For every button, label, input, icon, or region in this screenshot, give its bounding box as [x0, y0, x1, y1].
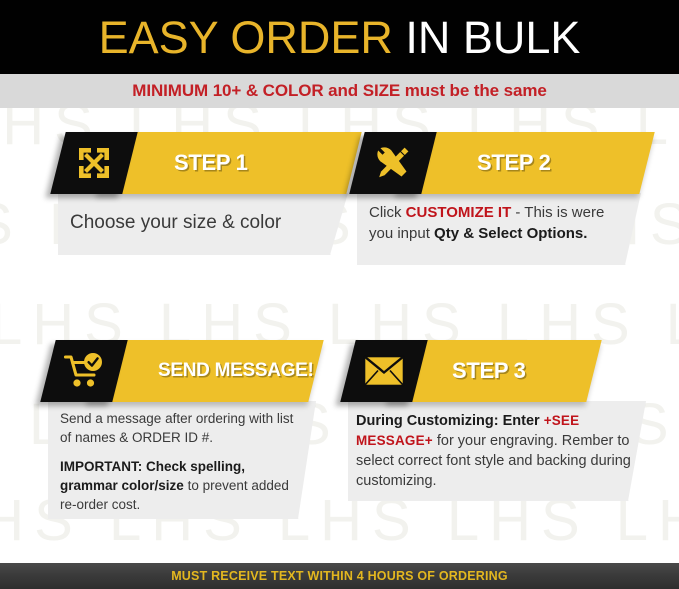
- page-title: EASY ORDER IN BULK: [99, 15, 581, 60]
- card-body-text: During Customizing: Enter +SEE MESSAGE+ …: [348, 401, 646, 501]
- card-heading: STEP 3: [452, 340, 526, 402]
- icon-block: [50, 132, 137, 194]
- title-primary: EASY ORDER: [99, 12, 393, 63]
- icon-block: [340, 340, 427, 402]
- card-body-text: Send a message after ordering with list …: [48, 401, 316, 524]
- card-line: Click CUSTOMIZE IT - This is were you in…: [369, 203, 627, 244]
- text-run-bold: During Customizing: Enter: [356, 413, 544, 429]
- header-banner: EASY ORDER IN BULK: [0, 0, 679, 74]
- subtitle-bar: MINIMUM 10+ & COLOR and SIZE must be the…: [0, 74, 679, 108]
- subtitle-text: MINIMUM 10+ & COLOR and SIZE must be the…: [132, 81, 546, 101]
- envelope-icon: [348, 340, 420, 402]
- cart-check-icon: [48, 340, 120, 402]
- card-body: Send a message after ordering with list …: [48, 401, 316, 519]
- card-line: IMPORTANT: Check spelling, grammar color…: [60, 458, 302, 514]
- text-run-bold: Qty & Select Options.: [434, 225, 587, 242]
- card-step-2: STEP 2 Click CUSTOMIZE IT - This is were…: [357, 132, 647, 265]
- text-run-bold: color/size: [122, 478, 184, 493]
- card-body: Click CUSTOMIZE IT - This is were you in…: [357, 193, 641, 265]
- footer-banner: MUST RECEIVE TEXT WITHIN 4 HOURS OF ORDE…: [0, 563, 679, 589]
- text-run-highlight: CUSTOMIZE IT: [406, 204, 512, 221]
- wrench-pencil-icon: [357, 132, 429, 194]
- text-run: Click: [369, 204, 406, 221]
- card-body: Choose your size & color: [58, 193, 348, 255]
- title-secondary: IN BULK: [405, 12, 580, 63]
- text-run: Choose your size & color: [70, 212, 281, 233]
- text-run: Send a message after ordering with list …: [60, 411, 293, 445]
- card-heading: STEP 1: [174, 132, 248, 194]
- card-header: STEP 2: [357, 132, 647, 194]
- card-body: During Customizing: Enter +SEE MESSAGE+ …: [348, 401, 646, 501]
- card-step-3: STEP 3 During Customizing: Enter +SEE ME…: [348, 340, 648, 501]
- infographic-page: LHS LHS LHS LHS LHS LHS LHS LHS LHS LHS …: [0, 0, 679, 589]
- expand-arrows-icon: [58, 132, 130, 194]
- card-line: Choose your size & color: [70, 210, 334, 236]
- text-run-bold: IMPORTANT:: [60, 459, 142, 474]
- icon-block: [349, 132, 436, 194]
- footer-text: MUST RECEIVE TEXT WITHIN 4 HOURS OF ORDE…: [171, 569, 508, 583]
- card-body-text: Click CUSTOMIZE IT - This is were you in…: [357, 193, 641, 254]
- card-heading: SEND MESSAGE!: [158, 340, 314, 402]
- card-header: STEP 3: [348, 340, 648, 402]
- card-header: SEND MESSAGE!: [48, 340, 323, 402]
- icon-block: [40, 340, 127, 402]
- card-step-1: STEP 1 Choose your size & color: [58, 132, 358, 255]
- card-line: During Customizing: Enter +SEE MESSAGE+ …: [356, 411, 632, 491]
- card-send-message: SEND MESSAGE! Send a message after order…: [48, 340, 323, 519]
- card-header: STEP 1: [58, 132, 358, 194]
- card-line: Send a message after ordering with list …: [60, 410, 302, 447]
- card-body-text: Choose your size & color: [58, 193, 348, 246]
- card-heading: STEP 2: [477, 132, 551, 194]
